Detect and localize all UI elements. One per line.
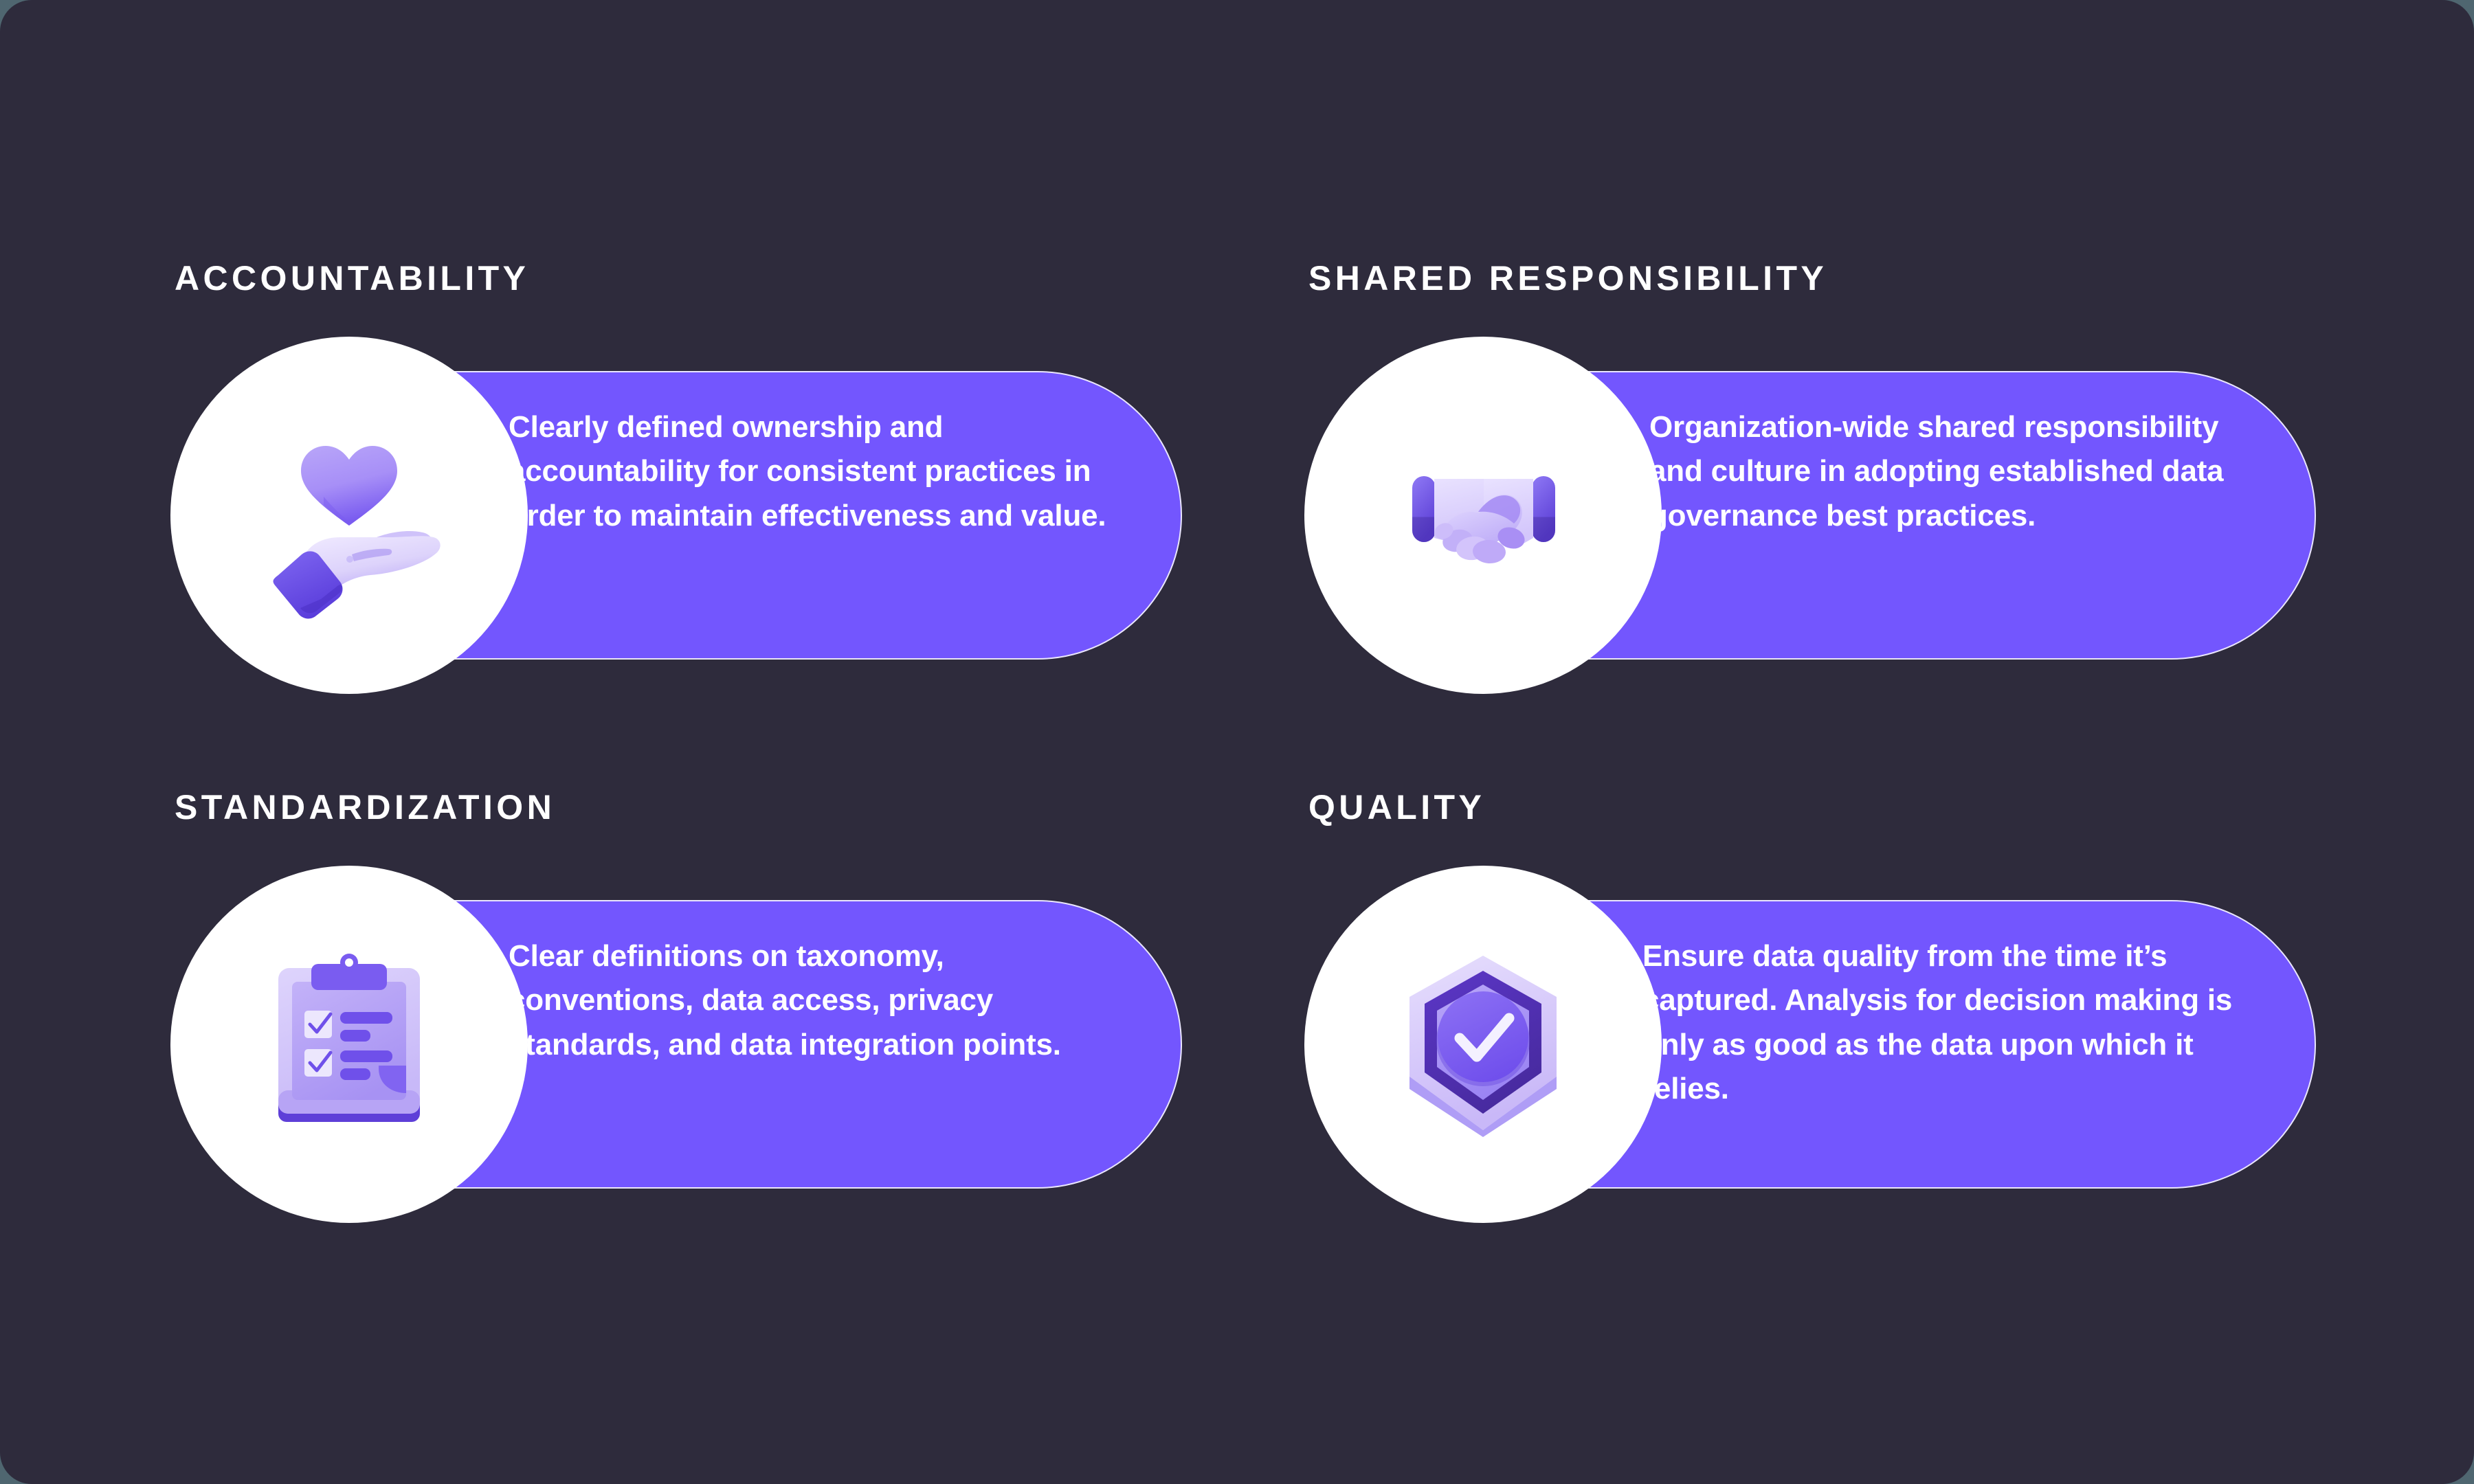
icon-disc <box>1304 337 1662 694</box>
card-accountability: ACCOUNTABILITY Clearly defined ownership… <box>172 261 1182 804</box>
card-standardization: STANDARDIZATION Clear definitions on tax… <box>172 790 1182 1333</box>
handshake-icon <box>1370 402 1596 629</box>
cards-grid: ACCOUNTABILITY Clearly defined ownership… <box>0 0 2474 1484</box>
infographic-root: ACCOUNTABILITY Clearly defined ownership… <box>0 0 2474 1484</box>
card-pill: Clearly defined ownership and accountabi… <box>172 371 1182 660</box>
card-shared-responsibility: SHARED RESPONSIBILITY Organization-wide … <box>1306 261 2316 804</box>
icon-disc <box>1304 866 1662 1223</box>
icon-disc <box>170 337 528 694</box>
card-heading: STANDARDIZATION <box>175 790 555 824</box>
hand-holding-heart-icon <box>236 402 463 629</box>
card-body-text: Clearly defined ownership and accountabi… <box>509 405 1127 538</box>
card-body-text: Ensure data quality from the time it’s c… <box>1642 934 2275 1112</box>
card-pill: Clear definitions on taxonomy, conventio… <box>172 900 1182 1189</box>
card-pill: Ensure data quality from the time it’s c… <box>1306 900 2316 1189</box>
card-heading: ACCOUNTABILITY <box>175 261 529 295</box>
shield-check-icon <box>1370 931 1596 1158</box>
card-pill: Organization-wide shared responsibility … <box>1306 371 2316 660</box>
icon-disc <box>170 866 528 1223</box>
card-heading: SHARED RESPONSIBILITY <box>1308 261 1827 295</box>
clipboard-checklist-icon <box>236 931 463 1158</box>
card-quality: QUALITY Ensure data quality from the tim… <box>1306 790 2316 1333</box>
card-body-text: Clear definitions on taxonomy, conventio… <box>509 934 1127 1067</box>
card-heading: QUALITY <box>1308 790 1485 824</box>
card-body-text: Organization-wide shared responsibility … <box>1649 405 2254 538</box>
